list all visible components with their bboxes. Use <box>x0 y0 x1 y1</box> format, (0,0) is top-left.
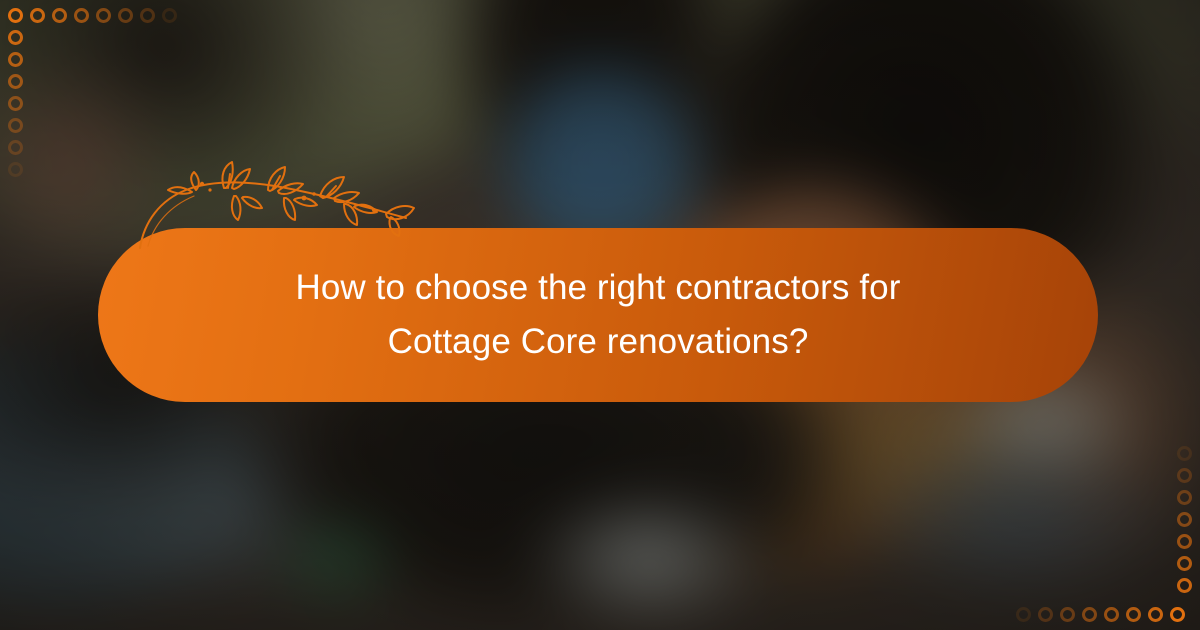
decoration-circle <box>1177 578 1192 593</box>
decoration-circle <box>96 8 111 23</box>
decoration-circle <box>8 162 23 177</box>
title-line-1: How to choose the right contractors for <box>295 268 900 307</box>
title-pill: How to choose the right contractors for … <box>98 228 1098 402</box>
decoration-circle <box>1126 607 1141 622</box>
decoration-circle <box>1177 446 1192 461</box>
decoration-circle <box>1082 607 1097 622</box>
decoration-circle <box>1060 607 1075 622</box>
decoration-circle <box>74 8 89 23</box>
decoration-circle <box>1177 534 1192 549</box>
decoration-circle <box>8 74 23 89</box>
decoration-circle <box>1177 556 1192 571</box>
decoration-circle <box>8 8 23 23</box>
page-title: How to choose the right contractors for … <box>235 261 960 370</box>
decoration-circle <box>1104 607 1119 622</box>
decoration-circle <box>52 8 67 23</box>
decoration-circle <box>1177 512 1192 527</box>
decoration-circles-bottom-row <box>1016 607 1192 622</box>
decoration-circle <box>1038 607 1053 622</box>
decoration-circle <box>8 96 23 111</box>
decoration-circle <box>8 30 23 45</box>
decoration-circle <box>162 8 177 23</box>
decoration-circle <box>30 8 45 23</box>
decoration-circle <box>1177 468 1192 483</box>
decoration-circle <box>8 140 23 155</box>
title-card: How to choose the right contractors for … <box>0 0 1200 630</box>
decoration-circle <box>118 8 133 23</box>
decoration-circle <box>1016 607 1031 622</box>
decoration-circle <box>140 8 155 23</box>
decoration-circle <box>8 52 23 67</box>
decoration-circle <box>8 118 23 133</box>
decoration-circles-right-column <box>1177 446 1192 622</box>
decoration-circle <box>1177 490 1192 505</box>
title-line-2: Cottage Core renovations? <box>388 322 809 361</box>
decoration-circle <box>1148 607 1163 622</box>
